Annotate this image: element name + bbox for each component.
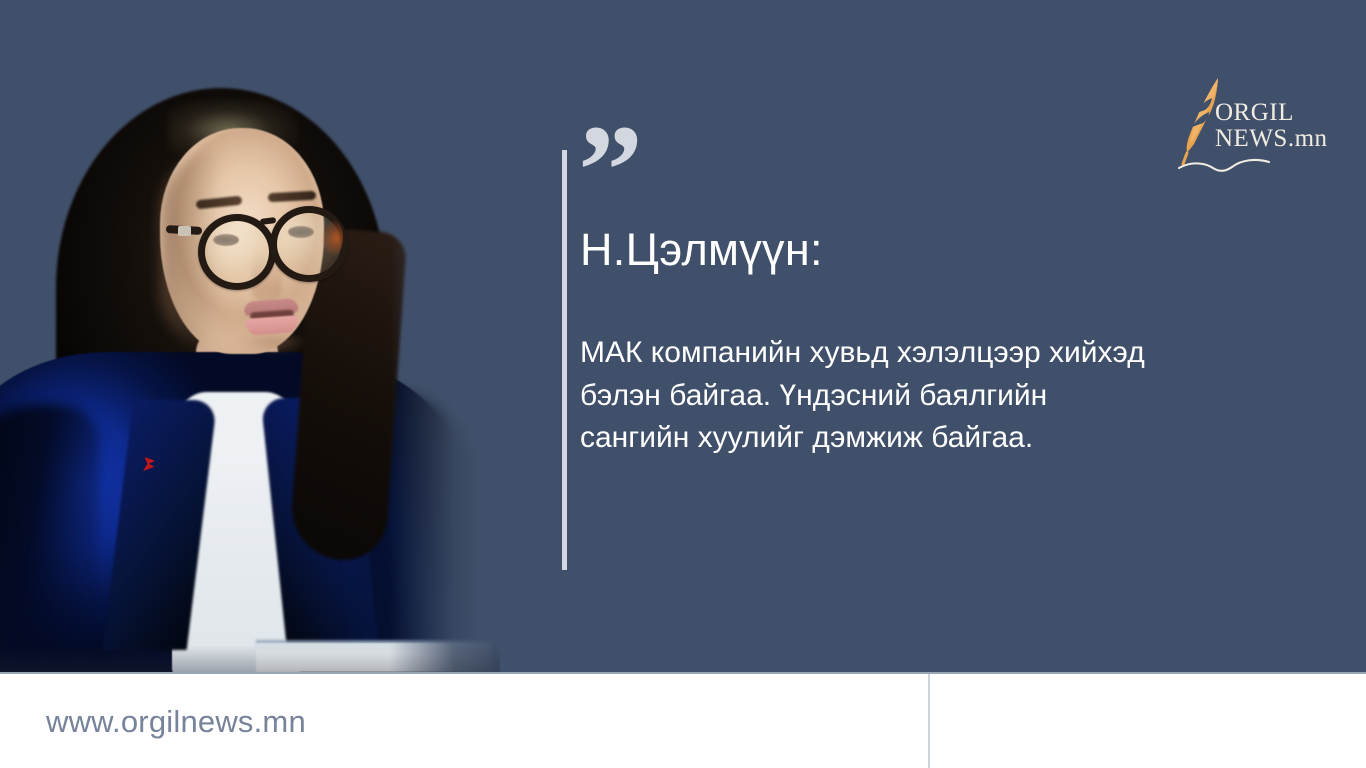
- logo-line-2: NEWS.mn: [1215, 126, 1328, 152]
- footer-bar: www.orgilnews.mn: [0, 672, 1366, 768]
- photo-right-fade: [390, 0, 500, 672]
- chin-shadow: [240, 336, 306, 354]
- quotation-mark-icon: ”: [578, 106, 645, 236]
- logo-line-1: ORGIL: [1215, 99, 1294, 126]
- eyeglasses-hinge: [178, 226, 191, 236]
- eyeglasses-lens-left: [198, 214, 276, 290]
- website-url[interactable]: www.orgilnews.mn: [46, 704, 306, 740]
- logo-wordmark: ORGIL NEWS.mn: [1215, 100, 1328, 152]
- eyeglasses-lens-right: [270, 206, 348, 282]
- speaker-photo: [0, 0, 500, 672]
- quote-accent-bar: [562, 150, 567, 570]
- speaker-name: Н.Цэлмүүн:: [580, 224, 823, 276]
- footer-divider: [928, 674, 930, 768]
- orgil-news-logo[interactable]: ORGIL NEWS.mn: [1163, 72, 1315, 176]
- quote-text: МАК компанийн хувьд хэлэлцээр хийхэд бэл…: [580, 332, 1158, 460]
- news-quote-slide: ” Н.Цэлмүүн: МАК компанийн хувьд хэлэлцэ…: [0, 0, 1366, 768]
- photo-bottom-fade: [0, 612, 500, 672]
